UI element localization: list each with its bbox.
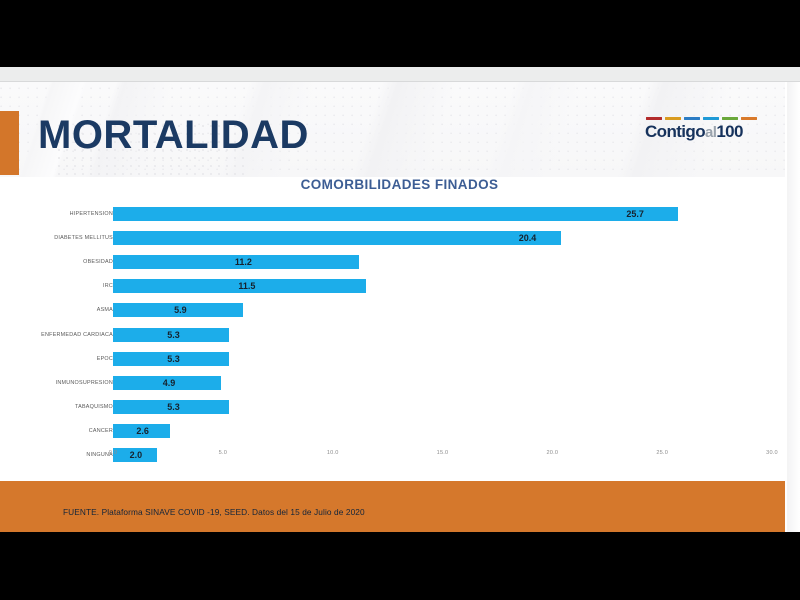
x-axis-tick-label: 25.0 bbox=[656, 450, 668, 456]
page-title: MORTALIDAD bbox=[38, 113, 309, 158]
logo-dash-1 bbox=[646, 117, 662, 120]
x-axis-tick-label: 15.0 bbox=[437, 450, 449, 456]
category-label: CANCER bbox=[89, 428, 113, 434]
bar bbox=[113, 231, 561, 245]
bar-value-label: 5.9 bbox=[174, 305, 187, 315]
viewer-top-letterbox bbox=[0, 0, 800, 67]
bar-value-label: 20.4 bbox=[519, 233, 537, 243]
category-label: DIABETES MELLITUS bbox=[54, 235, 113, 241]
bar-value-label: 2.6 bbox=[136, 426, 149, 436]
logo-dashes bbox=[645, 117, 757, 120]
slide-right-shadow bbox=[787, 82, 800, 532]
logo-dash-5 bbox=[722, 117, 738, 120]
bar-value-label: 5.3 bbox=[167, 354, 180, 364]
chart-title: COMORBILIDADES FINADOS bbox=[12, 177, 787, 192]
chart-plot-area: HIPERTENSION25.7DIABETES MELLITUS20.4OBE… bbox=[12, 198, 787, 456]
logo-wordmark: Contigoal100 bbox=[645, 123, 757, 140]
category-label: EPOC bbox=[97, 356, 113, 362]
contigo-al-100-logo: Contigoal100 bbox=[645, 117, 757, 150]
viewer-bottom-letterbox bbox=[0, 532, 800, 600]
bar-value-label: 25.7 bbox=[626, 209, 644, 219]
logo-dash-2 bbox=[665, 117, 681, 120]
x-axis-tick-label: 5.0 bbox=[219, 450, 227, 456]
x-axis-tick-label: 30.0 bbox=[766, 450, 778, 456]
category-label: ASMA bbox=[97, 307, 113, 313]
chart-container: COMORBILIDADES FINADOS HIPERTENSION25.7D… bbox=[12, 177, 787, 481]
logo-dash-4 bbox=[703, 117, 719, 120]
logo-word-contigo: Contigo bbox=[645, 122, 705, 141]
category-label: ENFERMEDAD CARDIACA bbox=[41, 332, 113, 338]
category-label: HIPERTENSION bbox=[70, 211, 113, 217]
bar-value-label: 5.3 bbox=[167, 402, 180, 412]
bar-value-label: 11.5 bbox=[238, 281, 255, 291]
source-note: FUENTE. Plataforma SINAVE COVID -19, SEE… bbox=[63, 507, 365, 517]
logo-dash-3 bbox=[684, 117, 700, 120]
category-label: TABAQUISMO bbox=[75, 404, 113, 410]
bar-value-label: 11.2 bbox=[235, 257, 252, 267]
bar-value-label: 4.9 bbox=[163, 378, 176, 388]
bar-value-label: 2.0 bbox=[130, 450, 143, 460]
x-axis-tick-label: 20.0 bbox=[546, 450, 558, 456]
bar bbox=[113, 207, 678, 221]
category-label: IRC bbox=[103, 283, 113, 289]
logo-word-100: 100 bbox=[716, 122, 743, 141]
logo-dash-6 bbox=[741, 117, 757, 120]
title-accent-bar bbox=[0, 111, 19, 175]
x-axis-tick-label: 10.0 bbox=[327, 450, 339, 456]
presentation-slide: MORTALIDAD Contigoal100 COMORBILIDADES F… bbox=[0, 82, 800, 532]
category-label: OBESIDAD bbox=[83, 259, 113, 265]
slide-footer-band: FUENTE. Plataforma SINAVE COVID -19, SEE… bbox=[0, 481, 785, 532]
viewer-toolbar-strip bbox=[0, 67, 800, 82]
logo-word-al: al bbox=[705, 124, 716, 141]
bar-value-label: 5.3 bbox=[167, 330, 180, 340]
x-axis-tick-label: 0.0 bbox=[109, 450, 117, 456]
category-label: INMUNOSUPRESION bbox=[56, 380, 113, 386]
